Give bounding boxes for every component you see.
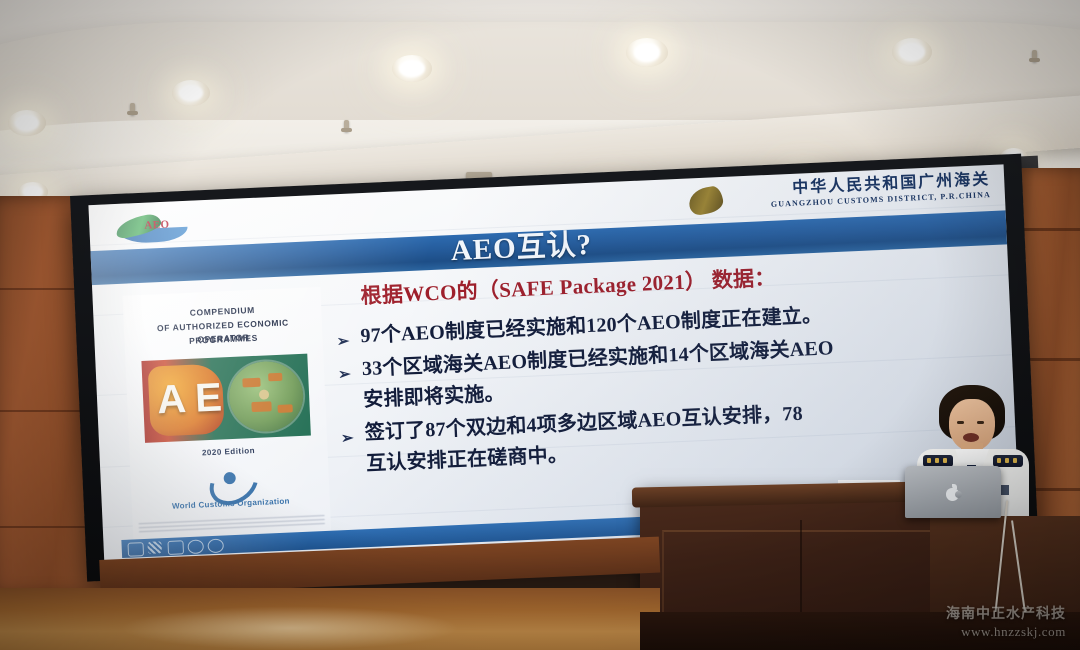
watermark-text-cn: 海南中正水产科技 — [946, 604, 1066, 623]
watermark-url: www.hnzzskj.com — [946, 623, 1066, 640]
sprinkler-head — [344, 120, 349, 132]
bullet-arrow-icon: ➢ — [340, 424, 354, 456]
slide-bullet-list: ➢ 97个AEO制度已经实施和120个AEO制度正在建立。 ➢ 33个区域海关A… — [334, 293, 1009, 484]
slide-grid-icon[interactable] — [167, 540, 184, 555]
cover-letter: A — [156, 379, 187, 420]
globe-icon — [228, 360, 305, 433]
downlight — [8, 110, 46, 136]
bullet-arrow-icon: ➢ — [338, 360, 352, 392]
stage-floor — [0, 588, 660, 650]
aeo-logo-text: AEO — [144, 220, 170, 232]
downlight — [172, 80, 210, 106]
uniform-epaulette — [993, 455, 1023, 467]
conference-room-photo: AEO 中华人民共和国广州海关 GUANGZHOU CUSTOMS DISTRI… — [0, 0, 1080, 650]
sprinkler-head — [1032, 50, 1037, 62]
cover-letter: E — [194, 377, 222, 418]
pen-tool-icon[interactable] — [147, 541, 162, 554]
more-options-icon[interactable] — [207, 539, 224, 554]
cover-artwork: A E — [141, 354, 310, 443]
apple-logo-icon — [945, 484, 960, 501]
presenter-mouth — [963, 433, 979, 442]
watermark: 海南中正水产科技 www.hnzzskj.com — [946, 604, 1066, 640]
downlight — [392, 55, 432, 82]
bullet-arrow-icon: ➢ — [336, 327, 350, 359]
wco-logo-icon — [207, 462, 252, 498]
cover-edition: 2020 Edition — [129, 443, 327, 462]
prev-slide-icon[interactable] — [127, 542, 144, 557]
aeo-logo-icon: AEO — [111, 210, 196, 248]
slide-title: AEO互认? — [450, 227, 593, 269]
downlight — [892, 38, 932, 66]
wco-compendium-cover: COMPENDIUM OF AUTHORIZED ECONOMIC OPERAT… — [122, 287, 331, 542]
zoom-tool-icon[interactable] — [187, 539, 204, 554]
sprinkler-head — [130, 103, 135, 115]
laptop — [905, 466, 1001, 518]
floor-reflection — [120, 606, 460, 650]
downlight — [626, 38, 668, 67]
